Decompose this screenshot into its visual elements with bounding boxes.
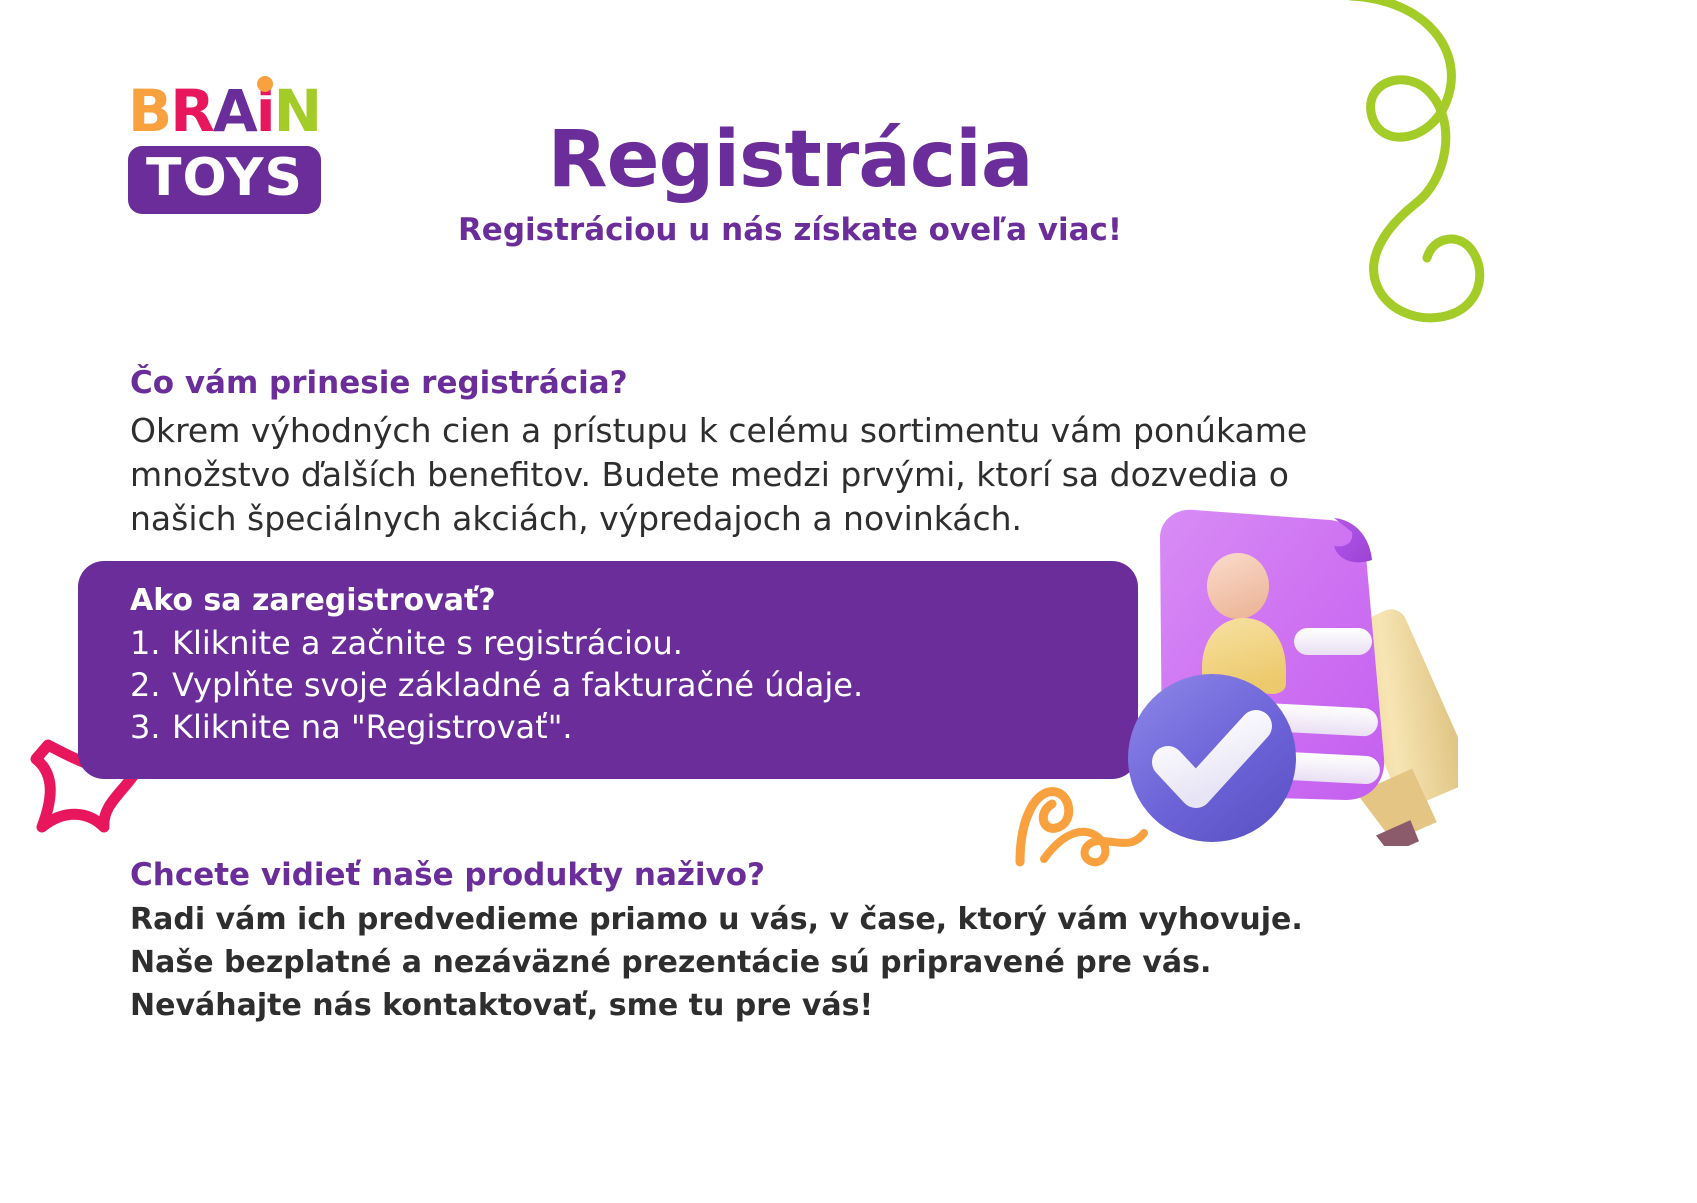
logo-wordmark-brain: BRAiN: [128, 82, 358, 140]
registration-flyer-page: BRAiN TOYS Registrácia Registráciou u ná…: [0, 0, 1697, 1203]
list-item: 1. Kliknite a začnite s registráciou.: [130, 622, 1120, 664]
live-demo-heading: Chcete vidieť naše produkty naživo?: [130, 855, 1480, 895]
logo-i-dot-icon: [257, 76, 273, 92]
list-item: 3. Kliknite na "Registrovať".: [130, 706, 1120, 748]
page-subtitle: Registráciou u nás získate oveľa viac!: [390, 212, 1190, 249]
live-demo-line: Neváhajte nás kontaktovať, sme tu pre vá…: [130, 985, 1480, 1028]
live-demo-section: Chcete vidieť naše produkty naživo? Radi…: [130, 855, 1480, 1028]
callout-content: Ako sa zaregistrovať? 1. Kliknite a začn…: [130, 581, 1120, 749]
step-number: 3.: [130, 706, 162, 748]
step-number: 2.: [130, 664, 162, 706]
green-squiggle-decoration: [1297, 0, 1657, 330]
how-to-register-callout: Ako sa zaregistrovať? 1. Kliknite a začn…: [78, 561, 1138, 779]
registration-steps-list: 1. Kliknite a začnite s registráciou. 2.…: [130, 622, 1120, 749]
list-item: 2. Vyplňte svoje základné a fakturačné ú…: [130, 664, 1120, 706]
step-text: Kliknite a začnite s registráciou.: [172, 622, 683, 664]
page-title: Registrácia: [390, 120, 1190, 202]
logo-letter-b: B: [128, 82, 170, 140]
logo-letter-a: A: [213, 82, 256, 140]
benefits-line: Okrem výhodných cien a prístupu k celému…: [130, 409, 1440, 453]
brand-logo[interactable]: BRAiN TOYS: [128, 82, 358, 214]
step-text: Kliknite na "Registrovať".: [172, 706, 573, 748]
logo-badge-toys: TOYS: [128, 146, 321, 214]
logo-letter-r: R: [170, 82, 213, 140]
header: Registrácia Registráciou u nás získate o…: [390, 120, 1190, 249]
registration-document-check-illustration: [1098, 486, 1458, 846]
logo-wordmark-toys: TOYS: [146, 152, 303, 204]
benefits-heading: Čo vám prinesie registrácia?: [130, 364, 1440, 403]
step-text: Vyplňte svoje základné a fakturačné údaj…: [172, 664, 863, 706]
live-demo-line: Naše bezplatné a nezáväzné prezentácie s…: [130, 942, 1480, 985]
logo-letter-n: N: [274, 82, 321, 140]
callout-heading: Ako sa zaregistrovať?: [130, 581, 1120, 620]
check-badge-icon: [1128, 674, 1296, 842]
logo-letter-i: i: [256, 82, 274, 140]
live-demo-line: Radi vám ich predvedieme priamo u vás, v…: [130, 899, 1480, 942]
step-number: 1.: [130, 622, 162, 664]
live-demo-paragraph: Radi vám ich predvedieme priamo u vás, v…: [130, 899, 1480, 1028]
